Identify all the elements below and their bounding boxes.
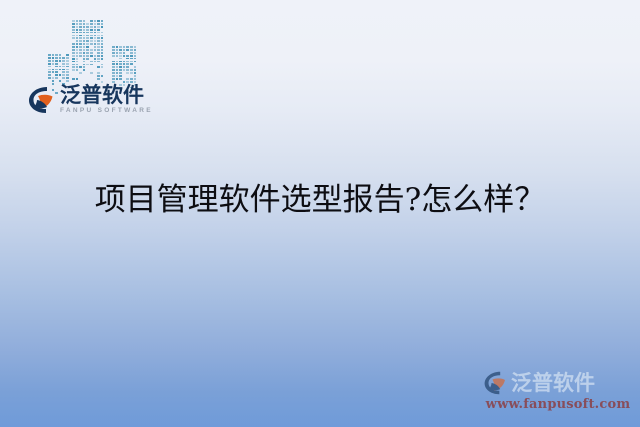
watermark-name-cn: 泛普软件 [511,373,595,394]
brand-name-en: FANPU SOFTWARE [60,108,153,115]
page-title: 项目管理软件选型报告?怎么样？ [0,178,640,222]
fanpu-swoosh-logo-icon [482,370,508,396]
watermark-url: www.fanpusoft.com [482,397,634,412]
fanpu-swoosh-logo-icon [26,85,56,115]
brand-logo: 泛普软件 FANPU SOFTWARE [26,84,153,115]
pixel-city-skyline-icon [48,20,144,88]
watermark: 泛普软件 www.fanpusoft.com [482,370,634,412]
banner-canvas: 泛普软件 FANPU SOFTWARE 项目管理软件选型报告?怎么样？ 泛普软件… [0,0,640,427]
brand-text-block: 泛普软件 FANPU SOFTWARE [60,84,153,115]
watermark-logo-row: 泛普软件 [482,370,634,396]
brand-name-cn: 泛普软件 [60,84,153,106]
